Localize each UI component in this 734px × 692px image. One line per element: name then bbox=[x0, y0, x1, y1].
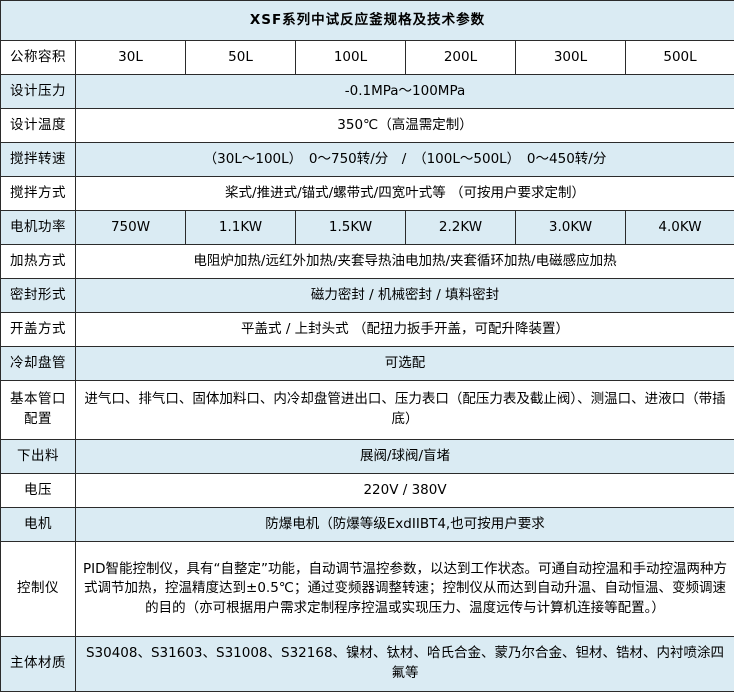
row-label-design-temperature: 设计温度 bbox=[1, 109, 76, 143]
row-label-motor-power: 电机功率 bbox=[1, 211, 76, 245]
motor-power-cell-3: 1.5KW bbox=[296, 211, 406, 245]
capacity-cell-5: 300L bbox=[516, 41, 626, 75]
row-value-cooling-coil: 可选配 bbox=[76, 347, 734, 381]
motor-power-cell-4: 2.2KW bbox=[406, 211, 516, 245]
capacity-cell-4: 200L bbox=[406, 41, 516, 75]
row-label-material: 主体材质 bbox=[1, 637, 76, 692]
row-value-port-config: 进气口、排气口、固体加料口、内冷却盘管进出口、压力表口（配压力表及截止阀）、测温… bbox=[76, 381, 734, 440]
table-row-discharge: 下出料 展阀/球阀/盲堵 bbox=[1, 440, 734, 474]
table-row-port-config: 基本管口配置 进气口、排气口、固体加料口、内冷却盘管进出口、压力表口（配压力表及… bbox=[1, 381, 734, 440]
capacity-cell-1: 30L bbox=[76, 41, 186, 75]
table-row-motor: 电机 防爆电机（防爆等级ExdIIBT4,也可按用户要求 bbox=[1, 508, 734, 542]
table-row-design-pressure: 设计压力 -0.1MPa～100MPa bbox=[1, 75, 734, 109]
table-body: XSF系列中试反应釜规格及技术参数 公称容积 30L 50L 100L 200L… bbox=[1, 1, 734, 692]
row-label-stir-speed: 搅拌转速 bbox=[1, 143, 76, 177]
capacity-cell-2: 50L bbox=[186, 41, 296, 75]
table-row-cooling-coil: 冷却盘管 可选配 bbox=[1, 347, 734, 381]
table-row-capacity: 公称容积 30L 50L 100L 200L 300L 500L bbox=[1, 41, 734, 75]
table-title-row: XSF系列中试反应釜规格及技术参数 bbox=[1, 1, 734, 41]
table-row-material: 主体材质 S30408、S31603、S31008、S32168、镍材、钛材、哈… bbox=[1, 637, 734, 692]
row-label-lid-type: 开盖方式 bbox=[1, 313, 76, 347]
row-label-voltage: 电压 bbox=[1, 474, 76, 508]
motor-power-cell-5: 3.0KW bbox=[516, 211, 626, 245]
row-value-stir-speed: （30L～100L） 0～750转/分 / （100L～500L） 0～450转… bbox=[76, 143, 734, 177]
table-row-seal-type: 密封形式 磁力密封 / 机械密封 / 填料密封 bbox=[1, 279, 734, 313]
row-value-discharge: 展阀/球阀/盲堵 bbox=[76, 440, 734, 474]
row-label-design-pressure: 设计压力 bbox=[1, 75, 76, 109]
row-label-capacity: 公称容积 bbox=[1, 41, 76, 75]
row-label-heating-type: 加热方式 bbox=[1, 245, 76, 279]
row-value-controller: PID智能控制仪，具有“自整定”功能，自动调节温控参数，以达到工作状态。可通自动… bbox=[76, 542, 734, 637]
page-title: XSF系列中试反应釜规格及技术参数 bbox=[1, 1, 734, 41]
table-row-voltage: 电压 220V / 380V bbox=[1, 474, 734, 508]
row-value-voltage: 220V / 380V bbox=[76, 474, 734, 508]
row-value-design-temperature: 350℃（高温需定制） bbox=[76, 109, 734, 143]
table-row-design-temperature: 设计温度 350℃（高温需定制） bbox=[1, 109, 734, 143]
row-value-design-pressure: -0.1MPa～100MPa bbox=[76, 75, 734, 109]
row-value-lid-type: 平盖式 / 上封头式 （配扭力扳手开盖，可配升降装置） bbox=[76, 313, 734, 347]
row-label-stir-type: 搅拌方式 bbox=[1, 177, 76, 211]
table-row-stir-type: 搅拌方式 桨式/推进式/锚式/螺带式/四宽叶式等 （可按用户要求定制） bbox=[1, 177, 734, 211]
table-row-heating-type: 加热方式 电阻炉加热/远红外加热/夹套导热油电加热/夹套循环加热/电磁感应加热 bbox=[1, 245, 734, 279]
row-value-material: S30408、S31603、S31008、S32168、镍材、钛材、哈氏合金、蒙… bbox=[76, 637, 734, 692]
row-label-cooling-coil: 冷却盘管 bbox=[1, 347, 76, 381]
capacity-cell-6: 500L bbox=[626, 41, 734, 75]
motor-power-cell-6: 4.0KW bbox=[626, 211, 734, 245]
table-row-controller: 控制仪 PID智能控制仪，具有“自整定”功能，自动调节温控参数，以达到工作状态。… bbox=[1, 542, 734, 637]
capacity-cell-3: 100L bbox=[296, 41, 406, 75]
row-label-motor: 电机 bbox=[1, 508, 76, 542]
row-label-discharge: 下出料 bbox=[1, 440, 76, 474]
motor-power-cell-1: 750W bbox=[76, 211, 186, 245]
table-row-stir-speed: 搅拌转速 （30L～100L） 0～750转/分 / （100L～500L） 0… bbox=[1, 143, 734, 177]
row-value-seal-type: 磁力密封 / 机械密封 / 填料密封 bbox=[76, 279, 734, 313]
row-value-motor: 防爆电机（防爆等级ExdIIBT4,也可按用户要求 bbox=[76, 508, 734, 542]
motor-power-cell-2: 1.1KW bbox=[186, 211, 296, 245]
row-label-seal-type: 密封形式 bbox=[1, 279, 76, 313]
specification-table: XSF系列中试反应釜规格及技术参数 公称容积 30L 50L 100L 200L… bbox=[0, 0, 734, 692]
table-row-motor-power: 电机功率 750W 1.1KW 1.5KW 2.2KW 3.0KW 4.0KW bbox=[1, 211, 734, 245]
table-row-lid-type: 开盖方式 平盖式 / 上封头式 （配扭力扳手开盖，可配升降装置） bbox=[1, 313, 734, 347]
row-value-heating-type: 电阻炉加热/远红外加热/夹套导热油电加热/夹套循环加热/电磁感应加热 bbox=[76, 245, 734, 279]
row-label-controller: 控制仪 bbox=[1, 542, 76, 637]
row-label-port-config: 基本管口配置 bbox=[1, 381, 76, 440]
row-value-stir-type: 桨式/推进式/锚式/螺带式/四宽叶式等 （可按用户要求定制） bbox=[76, 177, 734, 211]
